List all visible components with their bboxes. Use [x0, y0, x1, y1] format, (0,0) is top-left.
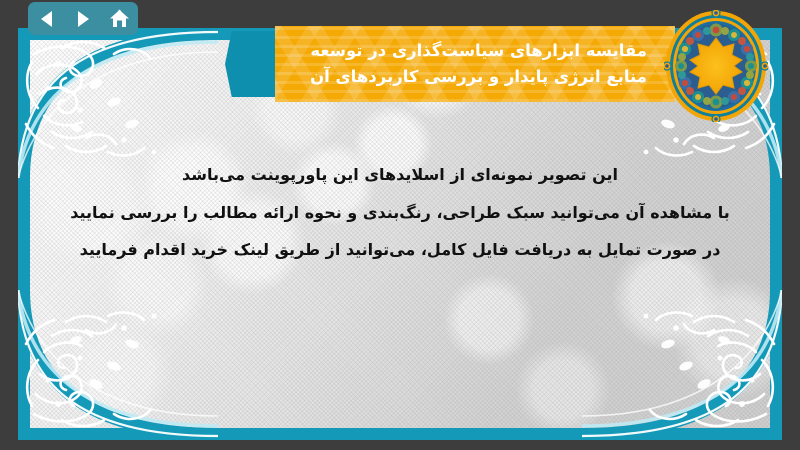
page-title-line-1: مقایسه ابزارهای سیاست‌گذاری در توسعه [285, 38, 647, 64]
persian-medallion-icon [664, 10, 768, 122]
slide-viewer: این تصویر نمونه‌ای از اسلایدهای این پاور… [0, 0, 800, 450]
body-line-1: این تصویر نمونه‌ای از اسلایدهای این پاور… [58, 156, 742, 194]
triangle-right-icon [73, 9, 93, 29]
home-icon [109, 9, 130, 29]
triangle-left-icon [37, 9, 57, 29]
body-line-3: در صورت تمایل به دریافت فایل کامل، می‌تو… [58, 231, 742, 269]
next-slide-button[interactable] [72, 8, 94, 30]
banner-arrow-tail [225, 31, 281, 97]
slide-body-text: این تصویر نمونه‌ای از اسلایدهای این پاور… [58, 156, 742, 269]
page-title-line-2: منابع انرژی پایدار و بررسی کاربردهای آن [285, 64, 647, 90]
navigation-toolbar [28, 2, 138, 35]
previous-slide-button[interactable] [36, 8, 58, 30]
home-button[interactable] [108, 8, 130, 30]
banner-body: مقایسه ابزارهای سیاست‌گذاری در توسعه منا… [275, 26, 675, 102]
body-line-2: با مشاهده آن می‌توانید سبک طراحی، رنگ‌بن… [58, 194, 742, 232]
